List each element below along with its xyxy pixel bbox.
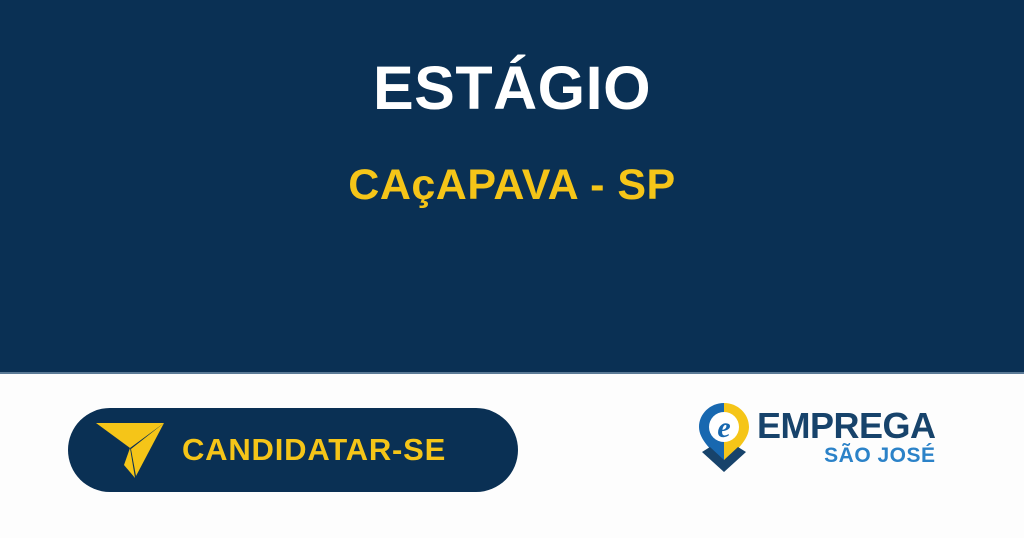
send-paper-plane-icon: [94, 418, 168, 482]
page-title: ESTÁGIO: [0, 56, 1024, 120]
brand-logo: e EMPREGA SÃO JOSÉ: [697, 402, 927, 478]
brand-wordmark: EMPREGA SÃO JOSÉ: [757, 402, 936, 466]
hero-banner: ESTÁGIO CAçAPAVA - SP: [0, 0, 1024, 374]
svg-text:e: e: [717, 411, 730, 444]
apply-button[interactable]: CANDIDATAR-SE: [68, 408, 518, 492]
location-subtitle: CAçAPAVA - SP: [0, 163, 1024, 208]
brand-subtitle: SÃO JOSÉ: [824, 445, 935, 466]
action-bar: CANDIDATAR-SE e EMPREGA SÃO JOSÉ: [0, 376, 1024, 538]
apply-button-label: CANDIDATAR-SE: [182, 432, 446, 468]
brand-name: EMPREGA: [757, 409, 936, 443]
map-pin-e-icon: e: [697, 402, 751, 474]
job-posting-card: ESTÁGIO CAçAPAVA - SP CANDIDATAR-SE: [0, 0, 1024, 538]
